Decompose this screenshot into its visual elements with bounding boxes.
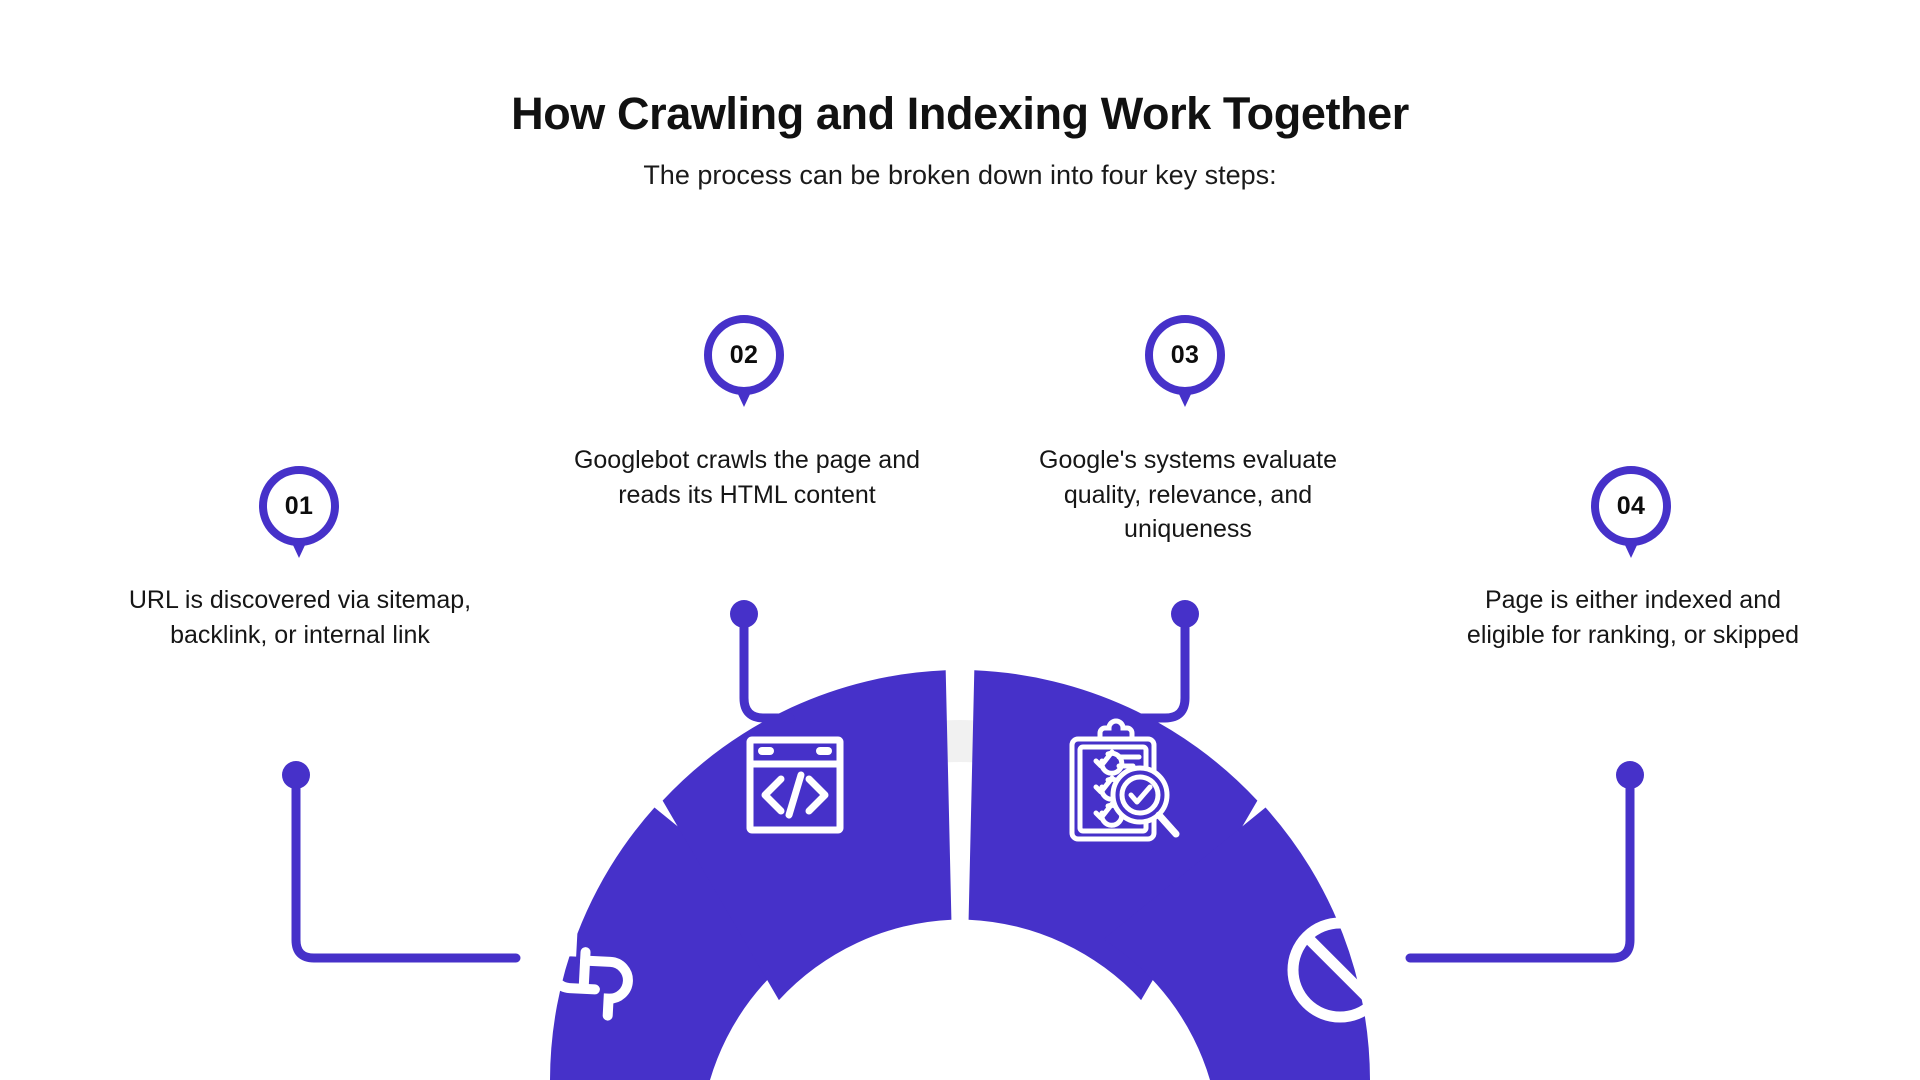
step-pin-01[interactable]: 01 <box>259 466 339 570</box>
step-number-04: 04 <box>1617 494 1645 519</box>
pin-ring: 01 <box>259 466 339 546</box>
connector-line-04 <box>1410 761 1644 958</box>
pin-ring: 04 <box>1591 466 1671 546</box>
step-pin-03[interactable]: 03 <box>1145 315 1225 419</box>
connector-dot-02 <box>730 600 758 628</box>
step-description-04: Page is either indexed and eligible for … <box>1453 583 1813 652</box>
connector-line-03 <box>1140 600 1199 718</box>
connector-line-01 <box>282 761 516 958</box>
connector-dot-01 <box>282 761 310 789</box>
pin-ring: 02 <box>704 315 784 395</box>
step-pin-04[interactable]: 04 <box>1591 466 1671 570</box>
step-description-01: URL is discovered via sitemap, backlink,… <box>120 583 480 652</box>
connector-dot-03 <box>1171 600 1199 628</box>
step-description-03: Google's systems evaluate quality, relev… <box>1008 443 1368 547</box>
connector-dot-04 <box>1616 761 1644 789</box>
connector-line-02 <box>730 600 790 718</box>
step-number-02: 02 <box>730 343 758 368</box>
infographic-canvas: How Crawling and Indexing Work Together … <box>0 0 1920 1080</box>
step-number-03: 03 <box>1171 343 1199 368</box>
step-pin-02[interactable]: 02 <box>704 315 784 419</box>
step-description-02: Googlebot crawls the page and reads its … <box>567 443 927 512</box>
pin-ring: 03 <box>1145 315 1225 395</box>
step-number-01: 01 <box>285 494 313 519</box>
